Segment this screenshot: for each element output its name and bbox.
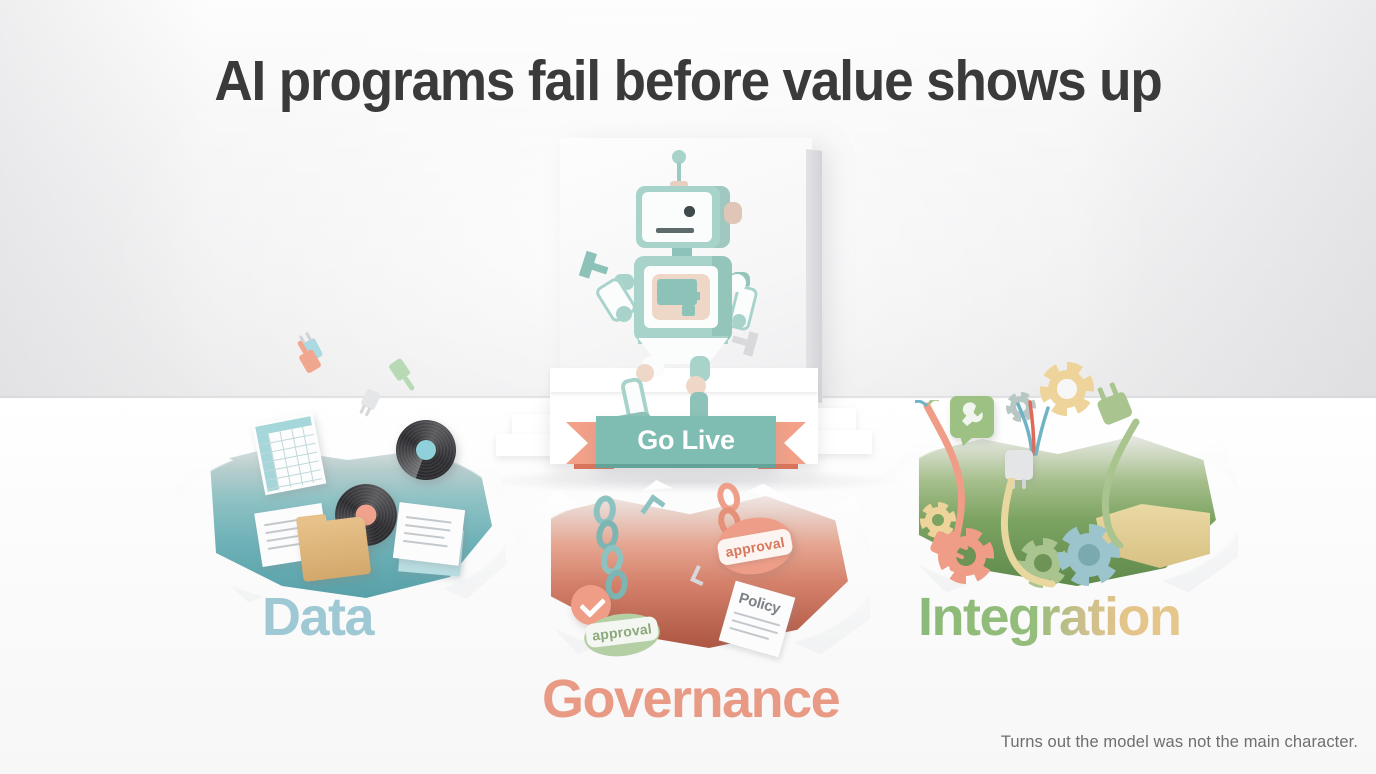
pit-label-governance: Governance bbox=[542, 668, 839, 730]
pit-governance bbox=[488, 470, 892, 670]
robot-elbow-left bbox=[616, 306, 632, 322]
robot-face-panel bbox=[642, 192, 712, 242]
wire-icon bbox=[1010, 398, 1070, 458]
document-line bbox=[406, 516, 452, 524]
pit-label-data: Data bbox=[262, 586, 373, 648]
folder-icon bbox=[297, 516, 372, 582]
robot-ear bbox=[724, 202, 742, 224]
cable-icon bbox=[998, 478, 1088, 588]
document-icon bbox=[393, 502, 465, 566]
vinyl-record-icon bbox=[396, 420, 456, 480]
robot-mouth bbox=[656, 228, 694, 233]
document-line bbox=[405, 524, 451, 532]
pit-governance-rim bbox=[514, 480, 870, 658]
robot-chest-screen-bar bbox=[684, 292, 700, 300]
footer-caption: Turns out the model was not the main cha… bbox=[1001, 733, 1358, 752]
robot-hand-right bbox=[729, 327, 759, 357]
robot-eye-right bbox=[684, 206, 695, 217]
check-tick bbox=[580, 591, 607, 618]
scene-canvas: AI programs fail before value shows up bbox=[0, 0, 1376, 774]
gear-hole bbox=[1057, 379, 1076, 398]
robot-elbow-right bbox=[732, 314, 746, 328]
pedestal-step-right-upper bbox=[812, 408, 856, 430]
document-line bbox=[403, 540, 448, 547]
adapter-body bbox=[1005, 450, 1033, 480]
robot-hand-left bbox=[579, 251, 612, 284]
robot-figure bbox=[572, 150, 782, 402]
pit-label-integration: Integration bbox=[918, 586, 1181, 648]
page-title: AI programs fail before value shows up bbox=[48, 48, 1328, 114]
go-live-banner[interactable]: Go Live bbox=[566, 416, 806, 468]
cable-green bbox=[1080, 398, 1190, 553]
banner-label: Go Live bbox=[596, 416, 776, 464]
vinyl-label bbox=[416, 440, 436, 460]
cable-icon bbox=[1080, 398, 1190, 548]
spreadsheet-icon bbox=[252, 413, 327, 496]
document-line bbox=[404, 532, 445, 539]
cable-tan bbox=[998, 478, 1088, 593]
robot-chest-screen-block bbox=[682, 305, 695, 316]
